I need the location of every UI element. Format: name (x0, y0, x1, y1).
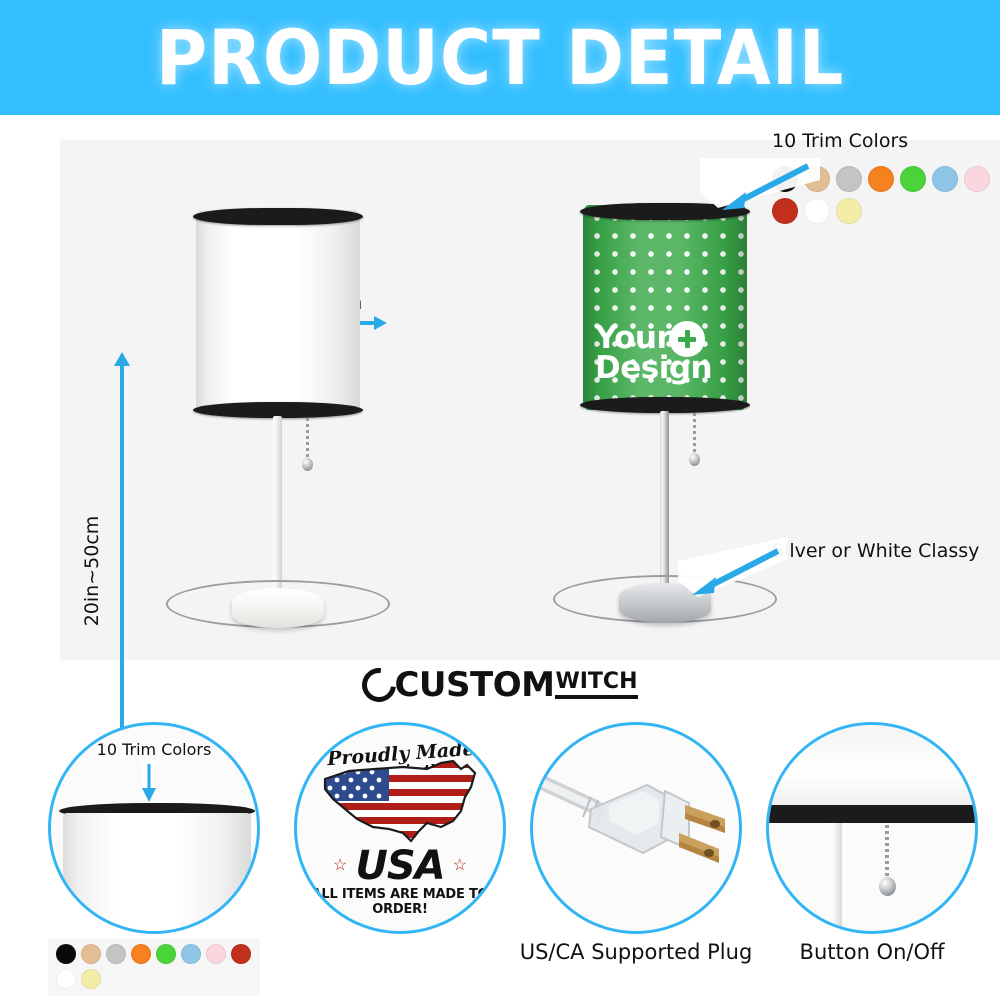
header-banner: PRODUCT DETAIL (0, 0, 1000, 115)
base-pointer-arrow (678, 535, 788, 605)
trim-swatch-tan[interactable] (81, 944, 101, 964)
lamp-shade-green: Your Design (583, 205, 747, 410)
trim-swatch-green[interactable] (156, 944, 176, 964)
trim-swatch-light-blue[interactable] (181, 944, 201, 964)
page-title: PRODUCT DETAIL (156, 13, 844, 102)
lamp-pole-silver (660, 411, 669, 596)
trim-colors-title: 10 Trim Colors (772, 130, 1000, 152)
trim-swatch-yellow[interactable] (836, 198, 862, 224)
lamp-base-white (232, 588, 324, 628)
lamp-white (168, 210, 388, 630)
trim-down-arrow (134, 762, 164, 804)
plus-icon (669, 321, 705, 357)
power-plug-icon (539, 761, 739, 891)
product-stage: 7in~18cm 20in~50cm (60, 140, 1000, 660)
trim-swatch-gray[interactable] (836, 166, 862, 192)
base-finish-label: Silver or White Classy (772, 540, 979, 562)
brand-logo: CUSTOM WITCH (0, 665, 1000, 705)
pull-chain-ball (689, 453, 700, 466)
feature-switch: Button On/Off (766, 722, 978, 934)
trim-swatch-pink[interactable] (964, 166, 990, 192)
switch-caption: Button On/Off (752, 940, 992, 964)
feature-trim-colors: 10 Trim Colors (48, 722, 260, 934)
trim-swatch-dark-red[interactable] (231, 944, 251, 964)
lamp-shade-white (196, 210, 360, 415)
trim-swatch-white[interactable] (56, 969, 76, 989)
feature-trim-title: 10 Trim Colors (64, 740, 244, 759)
trim-swatch-black[interactable] (56, 944, 76, 964)
bottom-trim-swatches (48, 938, 260, 996)
feature-plug: US/CA Supported Plug (530, 722, 742, 934)
height-dimension-label: 20in~50cm (81, 496, 103, 646)
switch-chain-ball (879, 877, 896, 896)
trim-swatch-orange[interactable] (131, 944, 151, 964)
design-line-2: Design (595, 353, 743, 383)
lamp-pole-white (273, 416, 282, 601)
trim-swatch-yellow[interactable] (81, 969, 101, 989)
made-in-usa-circle: Proudly Made in the (294, 722, 506, 934)
shade-trim-top (193, 208, 363, 225)
pull-chain (306, 418, 309, 460)
brand-underline (555, 695, 637, 699)
pull-chain-ball (302, 458, 313, 471)
trim-swatch-light-blue[interactable] (932, 166, 958, 192)
trim-swatch-orange[interactable] (868, 166, 894, 192)
usa-star-right: ☆ (453, 855, 467, 875)
brand-witch-text: WITCH (555, 671, 637, 693)
plug-caption: US/CA Supported Plug (506, 940, 766, 964)
trim-pointer-arrow (700, 158, 820, 228)
usa-word-text: USA (297, 843, 503, 889)
trim-swatch-pink[interactable] (206, 944, 226, 964)
brand-custom-text: CUSTOM (394, 665, 554, 705)
trim-swatch-gray[interactable] (106, 944, 126, 964)
plug-circle (530, 722, 742, 934)
usa-flag-map-icon (315, 757, 491, 849)
feature-made-in-usa: Proudly Made in the (294, 722, 506, 934)
pull-chain (693, 413, 696, 455)
product-detail-page: PRODUCT DETAIL 7in~18cm 20in~50cm (0, 0, 1000, 1000)
trim-swatch-green[interactable] (900, 166, 926, 192)
usa-made-to-order-text: ALL ITEMS ARE MADE TO ORDER! (297, 887, 503, 917)
switch-pull-chain (885, 825, 889, 883)
switch-circle (766, 722, 978, 934)
